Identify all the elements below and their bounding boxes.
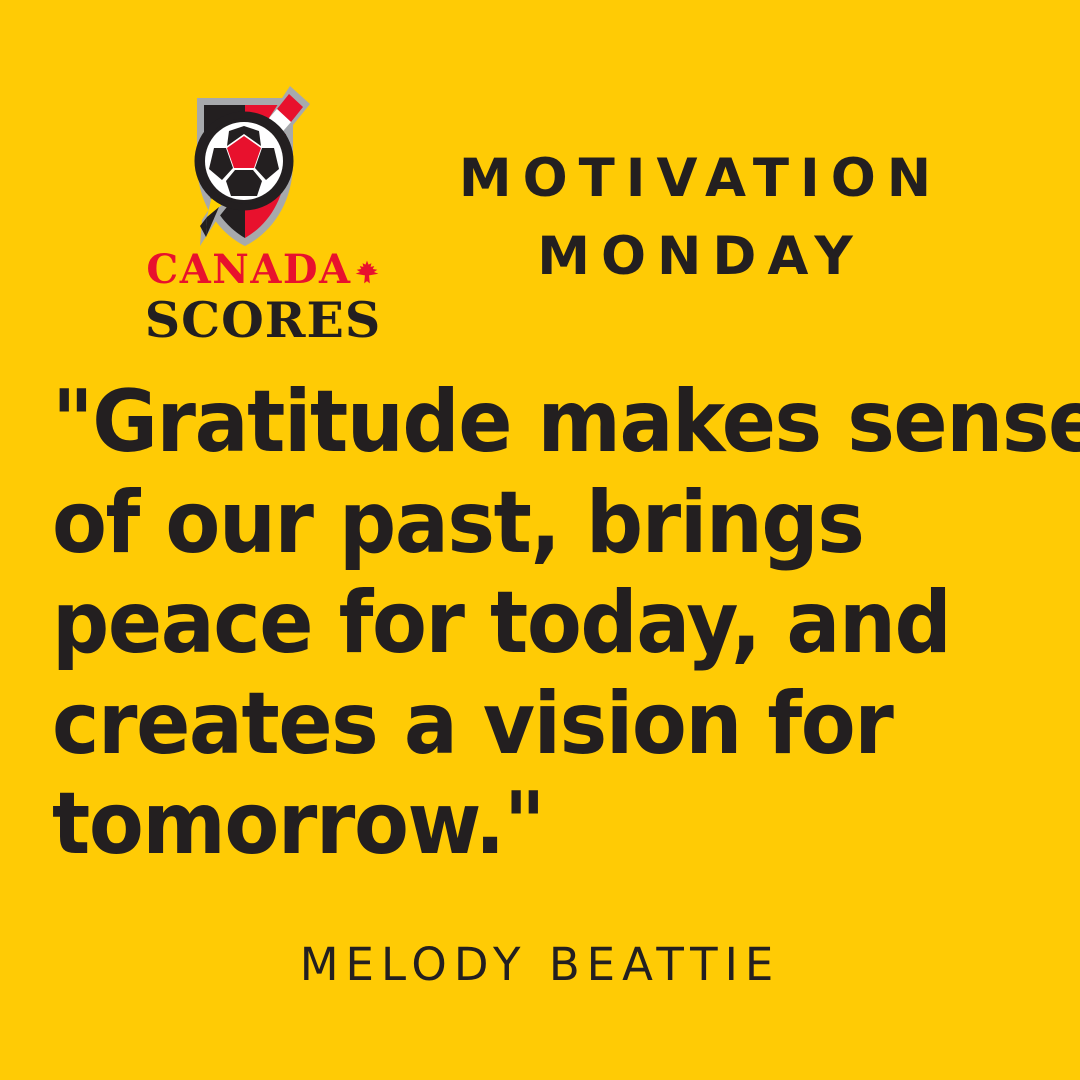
page-title-line-2: MONDAY [430, 218, 960, 296]
quote-line: "Gratitude makes sense [52, 372, 973, 473]
quote-text: "Gratitude makes sense of our past, brin… [52, 372, 1042, 875]
quote-line: creates a vision for [52, 674, 973, 775]
logo-wordmark: CANADA SCORES [128, 250, 398, 345]
canada-scores-shield-logo-icon [156, 84, 346, 254]
canada-scores-logo[interactable]: CANADA SCORES [128, 84, 398, 346]
quote-attribution: MELODY BEATTIE [0, 938, 1080, 991]
quote-line: peace for today, and [52, 573, 973, 674]
page-title: MOTIVATION MONDAY [430, 140, 960, 297]
page-title-line-1: MOTIVATION [430, 140, 960, 218]
quote-line: tomorrow." [52, 774, 973, 875]
logo-wordmark-canada: CANADA [128, 250, 398, 292]
maple-leaf-icon [354, 252, 380, 292]
poster-header: CANADA SCORES MOTIVATION MONDAY [0, 0, 1080, 360]
author-name: MELODY BEATTIE [300, 938, 781, 991]
motivation-monday-poster: CANADA SCORES MOTIVATION MONDAY "Gratitu… [0, 0, 1080, 1080]
logo-wordmark-scores: SCORES [128, 296, 398, 345]
quote-line: of our past, brings [52, 473, 973, 574]
